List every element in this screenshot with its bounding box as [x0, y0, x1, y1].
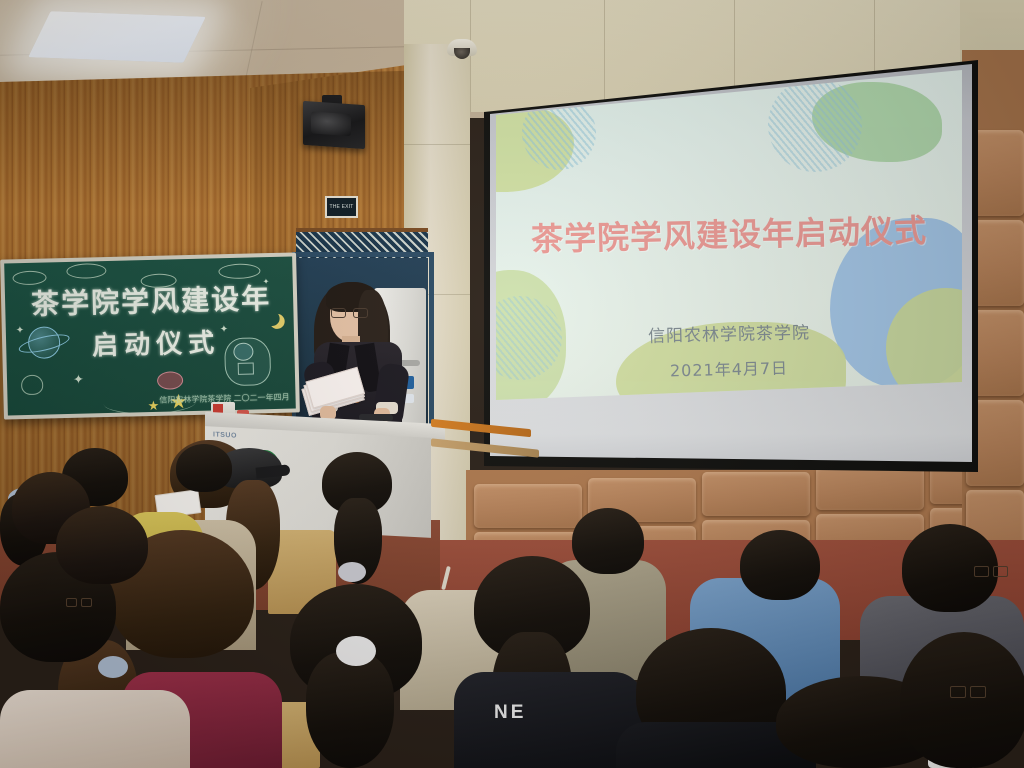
slide-striped-circle-right	[768, 78, 862, 172]
student-head	[56, 506, 148, 584]
white-scrunchie	[336, 636, 376, 666]
ceiling-light-panel	[28, 11, 206, 63]
wall-speaker-icon	[303, 101, 365, 149]
student-head	[900, 632, 1024, 768]
shirt-print: NE	[494, 702, 526, 724]
student-head	[740, 530, 820, 600]
glasses-icon	[974, 566, 1008, 577]
student-head	[572, 508, 644, 574]
exit-sign: THE EXIT	[325, 196, 358, 218]
lantern-icon	[157, 371, 183, 390]
exit-sign-label: THE EXIT	[329, 205, 353, 210]
ponytail	[306, 652, 394, 768]
presentation-slide: 茶学院学风建设年启动仪式 信阳农林学院茶学院 2021年4月7日	[496, 70, 962, 400]
dome-camera-icon	[447, 39, 477, 56]
blackboard-line2: 启动仪式	[66, 330, 247, 360]
podium-brand-label: ITSUO	[213, 431, 237, 439]
glasses-icon	[331, 308, 369, 318]
blackboard: ✦ ✦ ✦ ✦ ★ ★ 茶学院学风建设年 启动仪式 信阳农林学院茶学院 二〇二一…	[0, 252, 300, 419]
speaker-cone-icon	[311, 111, 351, 136]
flower-icon	[21, 375, 43, 396]
blackboard-line1: 茶学院学风建设年	[9, 284, 294, 319]
glasses-icon	[66, 598, 92, 607]
student-body	[0, 690, 190, 768]
scrunchie	[338, 562, 366, 582]
student-head	[176, 444, 232, 492]
lecture-hall-photo: THE EXIT ✦ ✦ ✦ ✦ ★ ★ 茶学院学风	[0, 0, 1024, 768]
glasses-icon	[950, 686, 986, 698]
hair-tie	[98, 656, 128, 678]
